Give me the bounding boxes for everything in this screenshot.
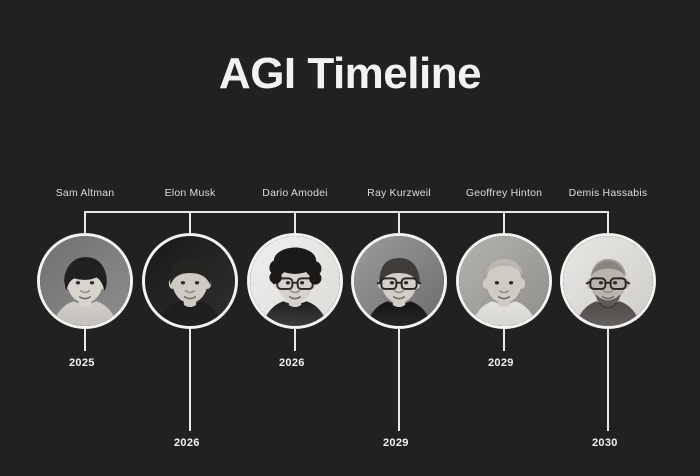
person-name-label: Sam Altman — [56, 187, 115, 199]
portrait-image — [354, 236, 444, 326]
year-label: 2025 — [69, 357, 95, 369]
year-tick-line — [607, 329, 609, 431]
person-name-label: Demis Hassabis — [569, 187, 648, 199]
portrait-image — [145, 236, 235, 326]
portrait-image — [250, 236, 340, 326]
year-label: 2030 — [592, 437, 618, 449]
page-title: AGI Timeline — [0, 52, 700, 96]
year-tick-line — [189, 329, 191, 431]
bracket-drop-line-3 — [294, 211, 296, 233]
person-name-label: Elon Musk — [165, 187, 216, 199]
portrait-image — [563, 236, 653, 326]
bracket-drop-line-2 — [189, 211, 191, 233]
year-label: 2029 — [383, 437, 409, 449]
portrait-image — [459, 236, 549, 326]
elon-musk-portrait — [142, 233, 238, 329]
portrait-image — [40, 236, 130, 326]
geoffrey-hinton-portrait — [456, 233, 552, 329]
sam-altman-portrait — [37, 233, 133, 329]
person-name-label: Geoffrey Hinton — [466, 187, 542, 199]
bracket-drop-line-1 — [84, 211, 86, 233]
year-tick-line — [503, 329, 505, 351]
year-tick-line — [84, 329, 86, 351]
year-label: 2029 — [488, 357, 514, 369]
year-tick-line — [398, 329, 400, 431]
bracket-drop-line-6 — [607, 211, 609, 233]
agi-timeline-infographic: AGI Timeline Sam AltmanElon MuskDario Am… — [0, 0, 700, 476]
bracket-drop-line-5 — [503, 211, 505, 233]
dario-amodei-portrait — [247, 233, 343, 329]
person-name-label: Dario Amodei — [262, 187, 327, 199]
ray-kurzweil-portrait — [351, 233, 447, 329]
demis-hassabis-portrait — [560, 233, 656, 329]
year-label: 2026 — [174, 437, 200, 449]
bracket-horizontal-line — [85, 211, 608, 213]
year-label: 2026 — [279, 357, 305, 369]
bracket-drop-line-4 — [398, 211, 400, 233]
year-tick-line — [294, 329, 296, 351]
person-name-label: Ray Kurzweil — [367, 187, 431, 199]
